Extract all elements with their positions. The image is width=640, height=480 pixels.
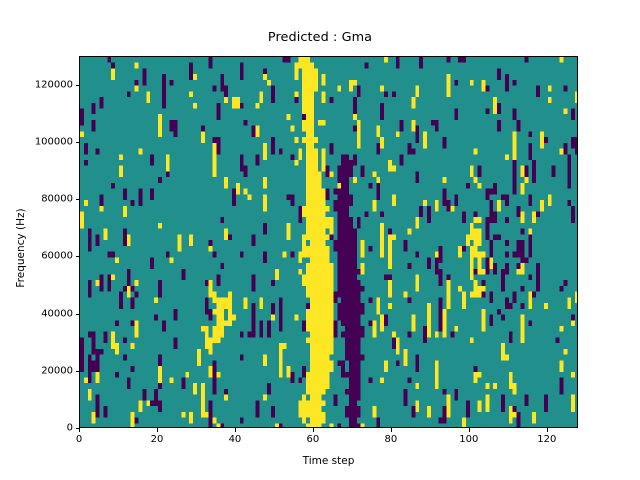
x-tick-label: 80 (385, 434, 398, 445)
x-tick-label: 20 (151, 434, 164, 445)
y-tick-label: 60000 (41, 251, 73, 262)
y-tick-label: 100000 (35, 136, 73, 147)
y-tick-mark (76, 428, 80, 429)
x-tick-label: 0 (76, 434, 82, 445)
x-tick-label: 120 (537, 434, 556, 445)
x-axis-label: Time step (79, 455, 578, 467)
y-tick-label: 0 (67, 423, 73, 434)
y-tick-label: 120000 (35, 79, 73, 90)
x-tick-label: 60 (307, 434, 320, 445)
heatmap-image (80, 57, 578, 428)
x-tick-mark (469, 428, 470, 432)
y-tick-mark (76, 256, 80, 257)
y-tick-mark (76, 142, 80, 143)
y-tick-mark (76, 199, 80, 200)
heatmap-plot-area (79, 56, 578, 428)
y-tick-label: 80000 (41, 194, 73, 205)
x-tick-label: 40 (229, 434, 242, 445)
y-tick-label: 40000 (41, 308, 73, 319)
y-tick-mark (76, 314, 80, 315)
x-tick-mark (235, 428, 236, 432)
x-tick-label: 100 (459, 434, 478, 445)
matplotlib-figure: Predicted : Gma 020406080100120 02000040… (0, 0, 640, 480)
x-tick-mark (157, 428, 158, 432)
x-tick-mark (313, 428, 314, 432)
y-tick-mark (76, 371, 80, 372)
x-tick-mark (547, 428, 548, 432)
x-tick-mark (391, 428, 392, 432)
y-tick-mark (76, 85, 80, 86)
x-tick-mark (79, 428, 80, 432)
page-title: Predicted : Gma (0, 30, 640, 45)
y-tick-label: 20000 (41, 365, 73, 376)
y-axis-label: Frequency (Hz) (15, 138, 27, 358)
